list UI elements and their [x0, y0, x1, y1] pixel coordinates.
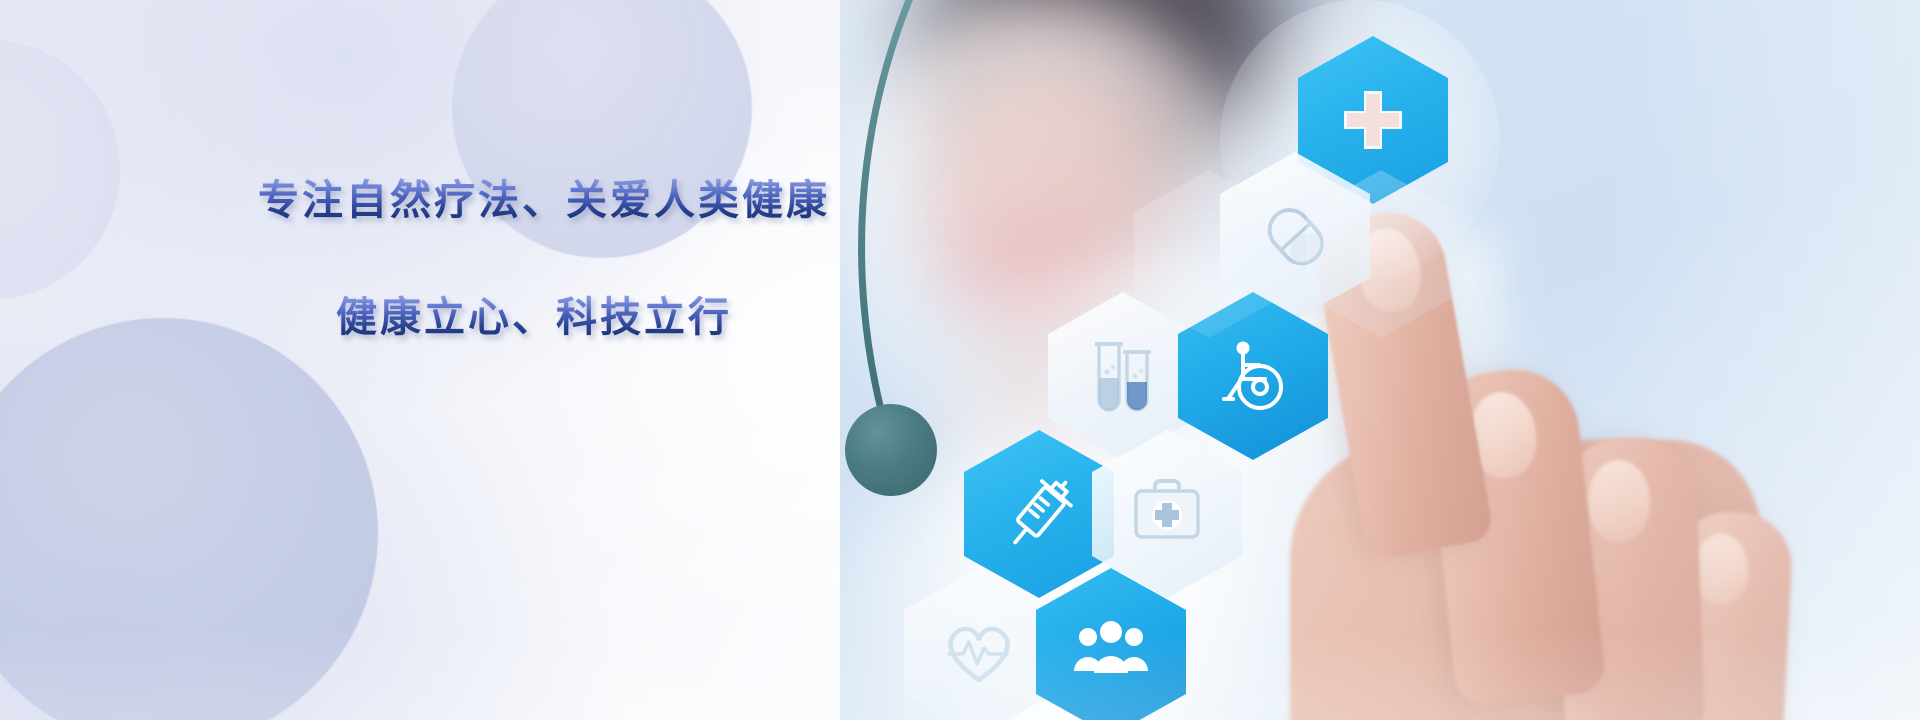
people-group-glyph — [1068, 617, 1154, 687]
first-aid-kit-glyph — [1126, 475, 1208, 553]
medical-cross-glyph — [1336, 83, 1410, 157]
healthcare-hero-banner: 专注自然疗法、关爱人类健康 健康立心、科技立行 — [0, 0, 1920, 720]
heart-glyph — [941, 616, 1017, 688]
test-tubes-glyph — [1083, 334, 1163, 418]
wheelchair-glyph — [1212, 335, 1294, 417]
headline-block: 专注自然疗法、关爱人类健康 健康立心、科技立行 — [258, 178, 898, 340]
fingernail-ring — [1588, 460, 1650, 542]
headline-line-1: 专注自然疗法、关爱人类健康 — [258, 178, 898, 223]
headline-line-2: 健康立心、科技立行 — [336, 295, 898, 340]
medical-hexagon-cluster — [920, 10, 1540, 720]
fingernail-pinky — [1694, 534, 1748, 604]
syringe-glyph — [996, 471, 1082, 557]
